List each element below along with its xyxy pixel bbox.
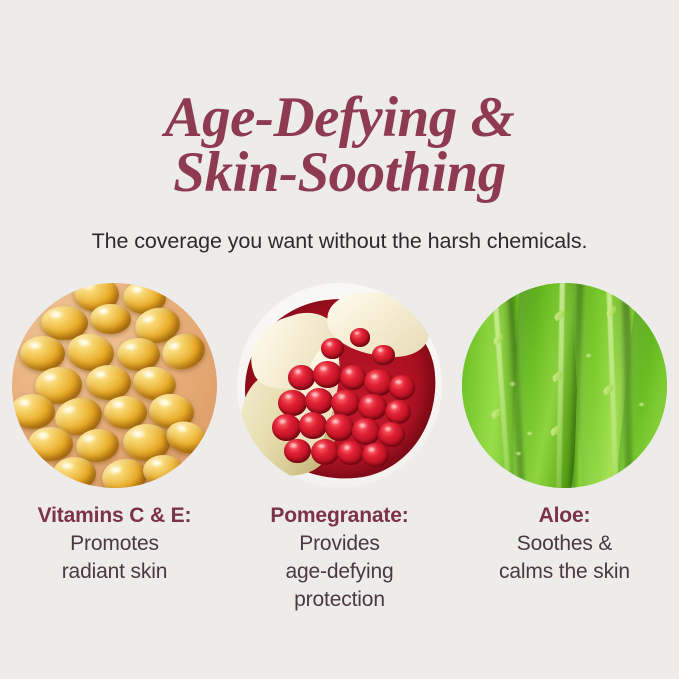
ingredient-title-aloe: Aloe: <box>457 503 672 529</box>
ingredient-caption-vitamins: Vitamins C & E: Promotes radiant skin <box>7 503 222 585</box>
ingredient-body-aloe-line-2: calms the skin <box>457 558 672 585</box>
ingredient-caption-aloe: Aloe: Soothes & calms the skin <box>457 503 672 585</box>
ingredient-body-pomegranate-line-2: age-defying <box>232 558 447 585</box>
ingredient-body-pomegranate-line-1: Provides <box>232 530 447 557</box>
page-title-line-2: Skin-Soothing <box>0 145 679 200</box>
ingredient-list: Vitamins C & E: Promotes radiant skin <box>0 283 679 613</box>
ingredient-caption-pomegranate: Pomegranate: Provides age-defying protec… <box>232 503 447 613</box>
ingredient-benefits-infographic: Age-Defying & Skin-Soothing The coverage… <box>0 0 679 679</box>
pomegranate-fruit-photo <box>237 283 442 488</box>
ingredient-body-vitamins-line-1: Promotes <box>7 530 222 557</box>
ingredient-title-vitamins: Vitamins C & E: <box>7 503 222 529</box>
ingredient-body-pomegranate-line-3: protection <box>232 586 447 613</box>
ingredient-item-vitamins: Vitamins C & E: Promotes radiant skin <box>12 283 217 585</box>
aloe-vera-leaves-photo <box>462 283 667 488</box>
ingredient-body-aloe-line-1: Soothes & <box>457 530 672 557</box>
vitamin-softgel-capsules-photo <box>12 283 217 488</box>
ingredient-body-vitamins-line-2: radiant skin <box>7 558 222 585</box>
ingredient-title-pomegranate: Pomegranate: <box>232 503 447 529</box>
page-title-line-1: Age-Defying & <box>0 90 679 145</box>
ingredient-item-aloe: Aloe: Soothes & calms the skin <box>462 283 667 585</box>
ingredient-item-pomegranate: Pomegranate: Provides age-defying protec… <box>237 283 442 613</box>
page-subtitle: The coverage you want without the harsh … <box>0 228 679 254</box>
page-title: Age-Defying & Skin-Soothing <box>0 90 679 200</box>
